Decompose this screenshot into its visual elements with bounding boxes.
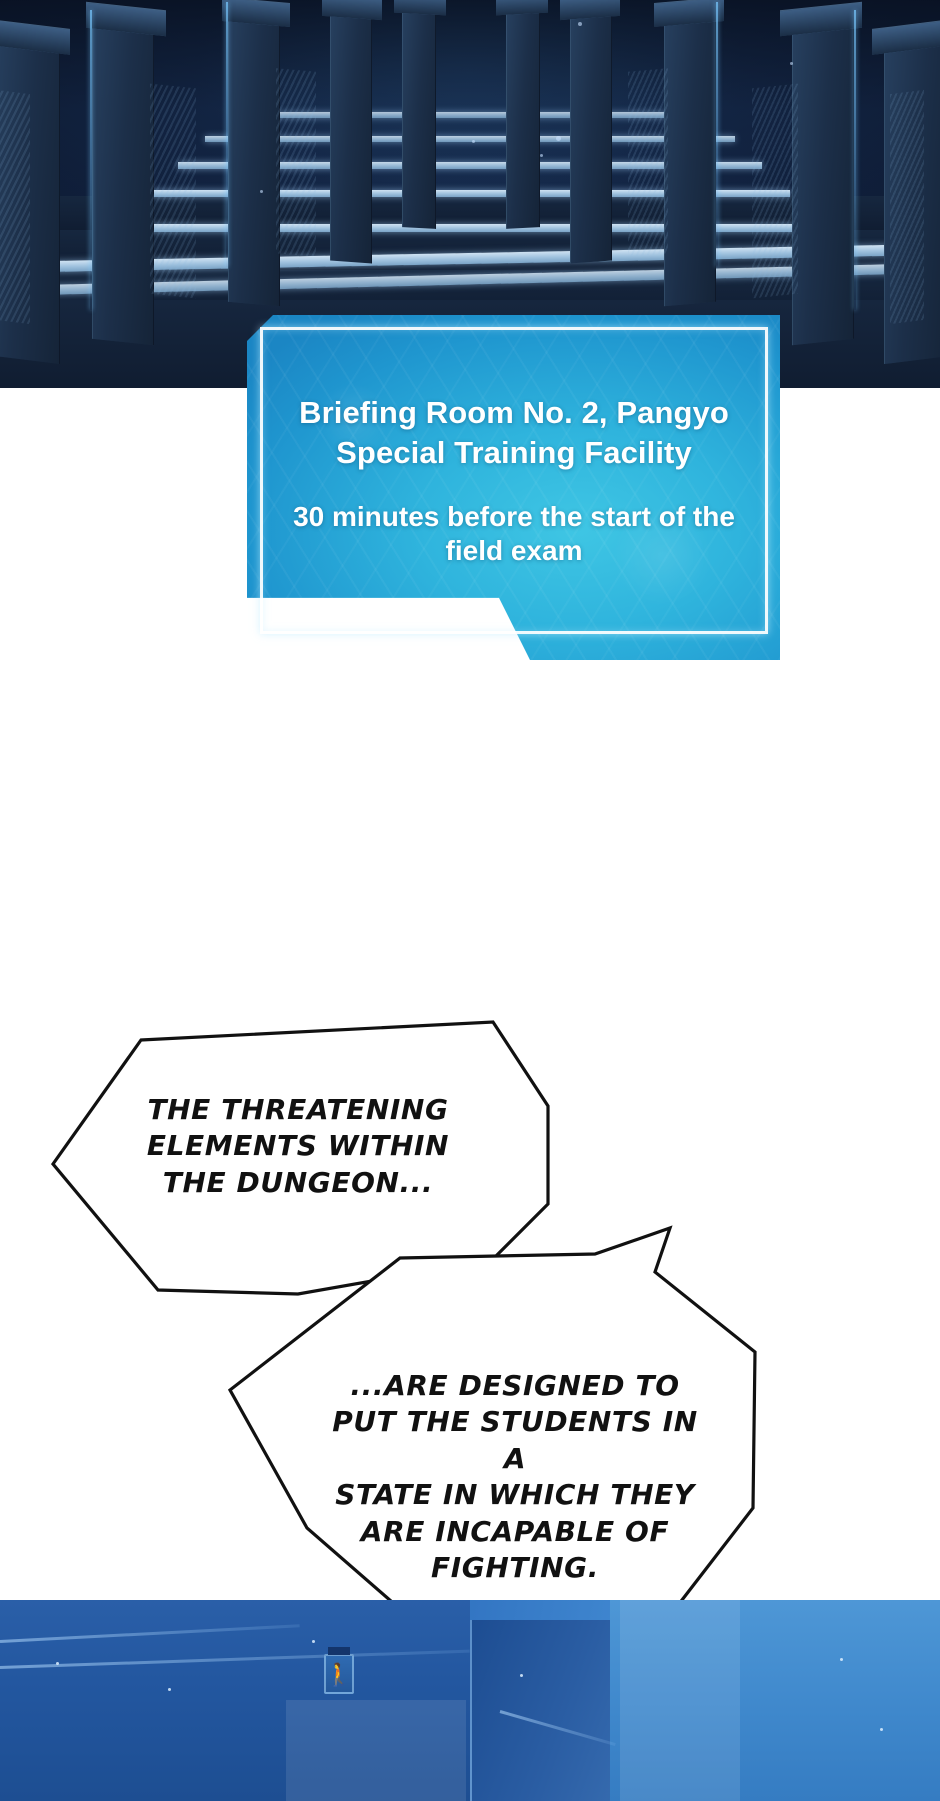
dust-mote [260,190,263,193]
seat-edge-glow [854,10,856,310]
seat-column [228,2,280,307]
seat-column [402,0,436,229]
seat-column [330,0,372,263]
running-man-exit-icon: 🚶 [325,1664,352,1686]
seat-column [792,9,854,346]
dust-mote [312,1640,315,1643]
exit-sign-header-bar [328,1647,350,1655]
seat-grille [628,68,668,256]
emergency-exit-sign: 🚶 [324,1654,354,1694]
seat-grille [0,90,30,324]
caption-title: Briefing Room No. 2, Pangyo Special Trai… [268,393,760,472]
scene-corridor [0,1600,940,1801]
seat-grille [752,84,798,299]
seat-grille [276,68,316,256]
speech-bubble-right-text: ...ARE DESIGNED TO PUT THE STUDENTS IN A… [325,1368,705,1586]
seat-column [92,9,154,346]
dust-mote [540,154,543,157]
caption-text-group: Briefing Room No. 2, Pangyo Special Trai… [260,327,768,634]
speech-bubble-right: ...ARE DESIGNED TO PUT THE STUDENTS IN A… [225,1228,785,1628]
seat-column [506,0,540,229]
seat-edge-glow [90,10,92,310]
caption-subtitle: 30 minutes before the start of the field… [268,500,760,568]
seat-edge-glow [226,2,228,267]
seat-grille [150,84,196,299]
seat-grille [890,90,924,324]
comic-page: Briefing Room No. 2, Pangyo Special Trai… [0,0,940,1801]
corridor-wall-panel [620,1600,740,1801]
corridor-doorway [470,1620,615,1801]
seat-backrest [394,0,446,15]
seat-column [664,2,716,307]
dust-mote [578,22,582,26]
dust-mote [168,1688,171,1691]
dust-mote [880,1728,883,1731]
dust-mote [56,1662,59,1665]
dust-mote [840,1658,843,1661]
speech-bubble-left-text: THE THREATENING ELEMENTS WITHIN THE DUNG… [118,1092,478,1201]
dust-mote [520,1674,523,1677]
dust-mote [556,136,561,141]
seat-column [570,0,612,263]
dust-mote [790,62,793,65]
dust-mote [472,140,475,143]
step-light-strip [100,224,840,232]
corridor-wall-panel [286,1700,466,1801]
seat-edge-glow [716,2,718,267]
